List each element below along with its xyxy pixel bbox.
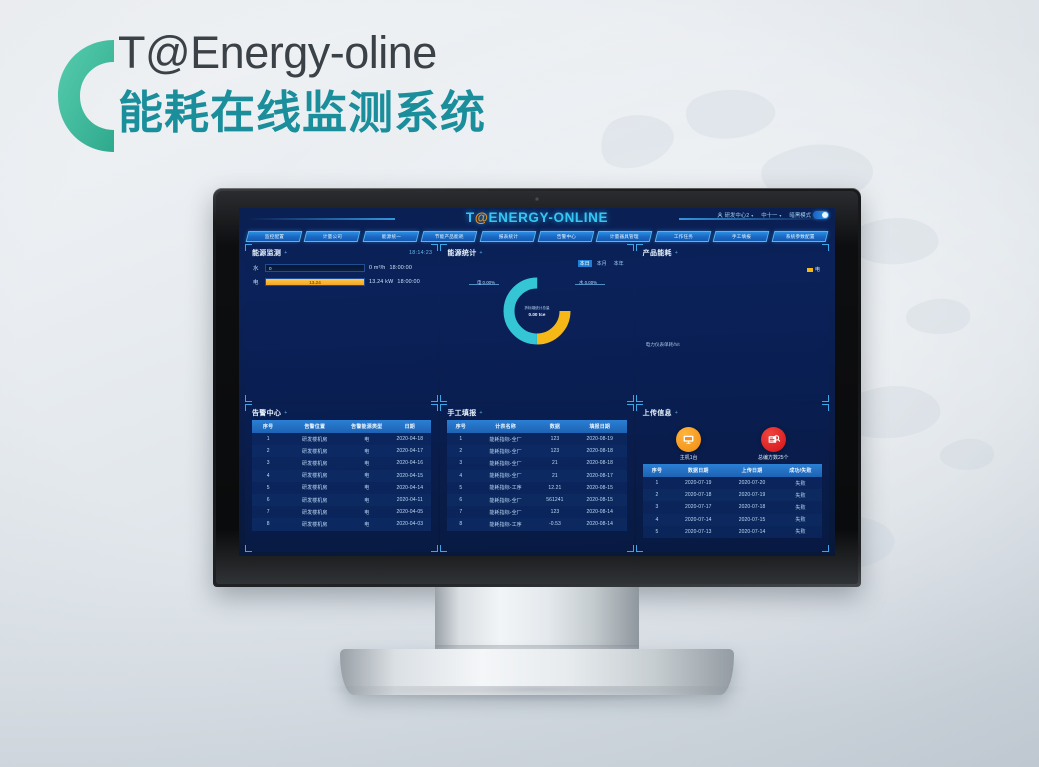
table-cell: 2020-08-18 xyxy=(573,457,627,469)
table-row[interactable]: 6能耗指标-全厂5612412020-08-15 xyxy=(447,494,626,506)
table-row[interactable]: 1能耗指标-全厂1232020-08-19 xyxy=(447,433,626,445)
table-cell: 12.21 xyxy=(537,482,573,494)
clock-energy-monitor: 18:14:23 xyxy=(409,250,432,256)
table-cell: 2020-08-17 xyxy=(573,470,627,482)
table-cell: 5 xyxy=(252,482,284,494)
branding-block: T@Energy-oline 能耗在线监测系统 xyxy=(56,24,616,154)
table-cell: 能耗指标-工序 xyxy=(474,518,537,530)
table-row[interactable]: 2研发楼机房电2020-04-17 xyxy=(252,445,431,457)
table-cell: 失败 xyxy=(779,501,822,513)
table-cell: 123 xyxy=(537,445,573,457)
energy-row-time: 18:00:00 xyxy=(389,265,412,271)
table-cell: 4 xyxy=(252,470,284,482)
server-host-glyph xyxy=(682,433,695,446)
table-cell: 4 xyxy=(643,514,672,526)
upload-info-stats: 主机1台 xyxy=(636,420,829,461)
table-cell: 2020-07-19 xyxy=(671,477,725,489)
nav-button-8[interactable]: 工作任务 xyxy=(654,231,711,242)
energy-row-reading: 0 m³/h xyxy=(369,265,385,271)
webcam-icon xyxy=(535,197,539,201)
upload-stat-host-label: 主机1台 xyxy=(680,454,698,461)
nav-button-10[interactable]: 系统参数配置 xyxy=(771,231,828,242)
table-cell: 2020-07-15 xyxy=(725,514,779,526)
energy-row-bar: 13.24 xyxy=(265,278,365,286)
panel-header-upload-info: 上传信息 + xyxy=(636,404,829,420)
table-cell: 8 xyxy=(252,518,284,530)
column-header: 日期 xyxy=(388,420,431,433)
table-cell: 研发楼机房 xyxy=(284,457,345,469)
table-cell: 123 xyxy=(537,506,573,518)
page-background: T@Energy-oline 能耗在线监测系统 T@ENERGY-ONLINE xyxy=(0,0,1039,767)
column-header: 计表名称 xyxy=(474,420,537,433)
header-right-controls: 研发中心2 ▾ 中十一 ▾ 暗黑模式 xyxy=(717,211,829,219)
table-cell: 2020-07-19 xyxy=(725,489,779,501)
column-header: 序号 xyxy=(643,464,672,477)
table-cell: 研发楼机房 xyxy=(284,482,345,494)
table-row[interactable]: 2能耗指标-全厂1232020-08-18 xyxy=(447,445,626,457)
table-cell: 失败 xyxy=(779,489,822,501)
dashboard-header: T@ENERGY-ONLINE 研发中心2 ▾ xyxy=(239,208,835,229)
panel-upload-info: 上传信息 + xyxy=(636,404,829,552)
table-cell: 2020-08-14 xyxy=(573,518,627,530)
secondary-label: 中十一 xyxy=(761,211,777,219)
table-row[interactable]: 4研发楼机房电2020-04-15 xyxy=(252,470,431,482)
upload-stat-reports-label: 总编方数25个 xyxy=(758,454,789,461)
panel-header-manual-entry: 手工填报 + xyxy=(440,404,633,420)
nav-button-label: 手工填报 xyxy=(732,234,751,240)
table-cell: 研发楼机房 xyxy=(284,470,345,482)
table-cell: 研发楼机房 xyxy=(284,506,345,518)
table-cell: 研发楼机房 xyxy=(284,518,345,530)
corner-bracket-bl xyxy=(636,395,643,402)
table-cell: 电 xyxy=(345,457,388,469)
energy-stats-period-tabs: 本日本月本年 xyxy=(578,260,626,267)
user-menu[interactable]: 研发中心2 ▾ xyxy=(717,211,754,219)
energy-monitor-rows: 水00 m³/h18:00:00电13.2413.24 kW18:00:00 xyxy=(245,260,438,286)
energy-row-bar-value: 13.24 xyxy=(309,280,321,285)
table-cell: 3 xyxy=(252,457,284,469)
at-symbol-icon: @ xyxy=(475,210,489,225)
alarm-center-table-wrap[interactable]: 序号告警位置告警能源类型日期1研发楼机房电2020-04-182研发楼机房电20… xyxy=(245,420,438,546)
table-cell: 6 xyxy=(447,494,474,506)
table-cell: -0.53 xyxy=(537,518,573,530)
table-cell: 2020-08-14 xyxy=(573,506,627,518)
c-arc-logo-icon xyxy=(56,38,118,154)
table-cell: 2020-08-19 xyxy=(573,433,627,445)
column-header: 告警能源类型 xyxy=(345,420,388,433)
table-row[interactable]: 3能耗指标-全厂212020-08-18 xyxy=(447,457,626,469)
corner-bracket-bl xyxy=(245,545,252,552)
table-cell: 2 xyxy=(643,489,672,501)
table-row[interactable]: 52020-07-132020-07-14失败 xyxy=(643,526,822,538)
manual-entry-table: 序号计表名称数据填报日期1能耗指标-全厂1232020-08-192能耗指标-全… xyxy=(447,420,626,531)
table-cell: 561241 xyxy=(537,494,573,506)
table-cell: 2020-07-13 xyxy=(671,526,725,538)
table-row[interactable]: 8研发楼机房电2020-04-03 xyxy=(252,518,431,530)
table-cell: 2020-07-14 xyxy=(725,526,779,538)
column-header: 数据日期 xyxy=(671,464,725,477)
user-icon xyxy=(717,212,723,218)
header-wing-left xyxy=(247,218,395,220)
table-row[interactable]: 42020-07-142020-07-15失败 xyxy=(643,514,822,526)
period-tab-2[interactable]: 本月 xyxy=(595,260,609,267)
expand-icon-energy-monitor[interactable]: + xyxy=(284,250,287,256)
table-row[interactable]: 12020-07-192020-07-20失败 xyxy=(643,477,822,489)
table-cell: 1 xyxy=(447,433,474,445)
table-cell: 电 xyxy=(345,470,388,482)
manual-entry-table-wrap[interactable]: 序号计表名称数据填报日期1能耗指标-全厂1232020-08-192能耗指标-全… xyxy=(440,420,633,546)
product-energy-legend: 电 xyxy=(807,266,820,273)
panel-header-energy-monitor: 能源监测 + 18:14:23 xyxy=(245,244,438,260)
table-cell: 能耗指标-工序 xyxy=(474,482,537,494)
nav-button-label: 计量器具管理 xyxy=(610,234,639,240)
donut-chart: 折标煤统计总量 0.00 tce xyxy=(500,274,574,348)
table-cell: 7 xyxy=(447,506,474,518)
server-host-icon xyxy=(676,427,701,452)
panel-alarm-center: 告警中心 + 序号告警位置告警能源类型日期1研发楼机房电2020-04-182研… xyxy=(245,404,438,552)
column-header: 上传日期 xyxy=(725,464,779,477)
table-cell: 21 xyxy=(537,457,573,469)
panel-product-energy: 产品能耗 + 电 电力仪表单耗/h/t xyxy=(636,244,829,402)
expand-icon-manual-entry[interactable]: + xyxy=(480,410,483,416)
dashboard-title-prefix: T xyxy=(466,210,475,225)
energy-monitor-row: 电13.2413.24 kW18:00:00 xyxy=(253,278,430,286)
corner-bracket-br xyxy=(431,395,438,402)
table-header-row: 序号计表名称数据填报日期 xyxy=(447,420,626,433)
corner-bracket-bl xyxy=(245,395,252,402)
table-cell: 能耗指标-全厂 xyxy=(474,470,537,482)
table-row[interactable]: 5研发楼机房电2020-04-14 xyxy=(252,482,431,494)
panel-title-upload-info: 上传信息 xyxy=(643,408,672,418)
legend-label-electricity: 电 xyxy=(815,266,820,273)
table-cell: 21 xyxy=(537,470,573,482)
expand-icon-upload-info[interactable]: + xyxy=(675,410,678,416)
alarm-center-table: 序号告警位置告警能源类型日期1研发楼机房电2020-04-182研发楼机房电20… xyxy=(252,420,431,531)
dashboard: T@ENERGY-ONLINE 研发中心2 ▾ xyxy=(239,208,835,556)
report-search-glyph xyxy=(767,433,780,446)
table-cell: 电 xyxy=(345,482,388,494)
table-cell: 5 xyxy=(643,526,672,538)
table-cell: 2020-04-18 xyxy=(388,433,431,445)
panel-energy-stats: 能源统计 + 本日本月本年 电 0.00% 水 0.00% xyxy=(440,244,633,402)
nav-button-label: 告警中心 xyxy=(557,234,576,240)
upload-info-table: 序号数据日期上传日期成功/失败12020-07-192020-07-20失败22… xyxy=(643,464,822,538)
table-cell: 2020-07-14 xyxy=(671,514,725,526)
energy-row-name: 水 xyxy=(253,264,261,272)
nav-button-1[interactable]: 监控配置 xyxy=(246,231,303,242)
monitor: T@ENERGY-ONLINE 研发中心2 ▾ xyxy=(213,188,861,698)
nav-button-5[interactable]: 报表统计 xyxy=(479,231,536,242)
table-cell: 2020-04-11 xyxy=(388,494,431,506)
energy-row-bar-value-outside: 0 xyxy=(269,266,272,271)
table-cell: 2020-07-18 xyxy=(671,489,725,501)
table-cell: 2020-04-15 xyxy=(388,470,431,482)
panel-title-product-energy: 产品能耗 xyxy=(643,248,672,258)
energy-row-bar: 0 xyxy=(265,264,365,272)
table-cell: 2020-07-20 xyxy=(725,477,779,489)
expand-icon-alarm-center[interactable]: + xyxy=(284,410,287,416)
table-cell: 2020-08-15 xyxy=(573,482,627,494)
dashboard-grid: 能源监测 + 18:14:23 水00 m³/h18:00:00电13.2413… xyxy=(245,244,829,552)
energy-row-reading: 13.24 kW xyxy=(369,279,393,285)
table-cell: 电 xyxy=(345,494,388,506)
corner-bracket-br xyxy=(627,395,634,402)
upload-info-table-wrap[interactable]: 序号数据日期上传日期成功/失败12020-07-192020-07-20失败22… xyxy=(636,461,829,538)
table-cell: 电 xyxy=(345,518,388,530)
user-name: 研发中心2 xyxy=(725,211,750,219)
table-cell: 失败 xyxy=(779,514,822,526)
table-cell: 2020-04-14 xyxy=(388,482,431,494)
nav-button-label: 系统参数配置 xyxy=(785,234,814,240)
upload-stat-reports[interactable]: 总编方数25个 xyxy=(758,427,789,461)
column-header: 序号 xyxy=(252,420,284,433)
table-header-row: 序号告警位置告警能源类型日期 xyxy=(252,420,431,433)
nav-button-label: 节能产品能耗 xyxy=(435,234,464,240)
table-cell: 失败 xyxy=(779,477,822,489)
monitor-screen: T@ENERGY-ONLINE 研发中心2 ▾ xyxy=(239,208,835,556)
panel-title-manual-entry: 手工填报 xyxy=(447,408,476,418)
energy-row-name: 电 xyxy=(253,278,261,286)
table-cell: 6 xyxy=(252,494,284,506)
panel-energy-monitor: 能源监测 + 18:14:23 水00 m³/h18:00:00电13.2413… xyxy=(245,244,438,402)
table-cell: 123 xyxy=(537,433,573,445)
table-cell: 能耗指标-全厂 xyxy=(474,457,537,469)
table-row[interactable]: 22020-07-182020-07-19失败 xyxy=(643,489,822,501)
table-row[interactable]: 1研发楼机房电2020-04-18 xyxy=(252,433,431,445)
table-cell: 4 xyxy=(447,470,474,482)
table-cell: 研发楼机房 xyxy=(284,433,345,445)
table-cell: 2020-04-05 xyxy=(388,506,431,518)
table-cell: 5 xyxy=(447,482,474,494)
product-energy-axis-label: 电力仪表单耗/h/t xyxy=(646,342,680,348)
table-cell: 能耗指标-全厂 xyxy=(474,494,537,506)
corner-bracket-br xyxy=(627,545,634,552)
nav-button-label: 工作任务 xyxy=(673,234,692,240)
table-cell: 能耗指标-全厂 xyxy=(474,506,537,518)
period-tab-3[interactable]: 本年 xyxy=(612,260,626,267)
nav-button-6[interactable]: 告警中心 xyxy=(538,231,595,242)
table-cell: 2020-08-15 xyxy=(573,494,627,506)
table-cell: 2020-08-18 xyxy=(573,445,627,457)
table-cell: 7 xyxy=(252,506,284,518)
corner-bracket-bl xyxy=(440,395,447,402)
table-cell: 能耗指标-全厂 xyxy=(474,433,537,445)
upload-stat-host[interactable]: 主机1台 xyxy=(676,427,701,461)
table-row[interactable]: 6研发楼机房电2020-04-11 xyxy=(252,494,431,506)
table-cell: 2020-07-18 xyxy=(725,501,779,513)
table-cell: 2020-04-17 xyxy=(388,445,431,457)
table-cell: 3 xyxy=(447,457,474,469)
table-row[interactable]: 5能耗指标-工序12.212020-08-15 xyxy=(447,482,626,494)
corner-bracket-br xyxy=(431,545,438,552)
column-header: 序号 xyxy=(447,420,474,433)
column-header: 告警位置 xyxy=(284,420,345,433)
table-cell: 2020-04-16 xyxy=(388,457,431,469)
expand-icon-product-energy[interactable]: + xyxy=(675,250,678,256)
dashboard-title: T@ENERGY-ONLINE xyxy=(466,210,608,225)
corner-bracket-bl xyxy=(636,545,643,552)
chevron-down-icon: ▾ xyxy=(751,213,753,218)
donut-center-value: 0.00 tce xyxy=(529,312,546,317)
report-search-icon xyxy=(761,427,786,452)
donut-center-caption: 折标煤统计总量 xyxy=(524,306,549,311)
nav-button-label: 报表统计 xyxy=(498,234,517,240)
corner-bracket-bl xyxy=(440,545,447,552)
expand-icon-energy-stats[interactable]: + xyxy=(480,250,483,256)
energy-row-time: 18:00:00 xyxy=(397,279,420,285)
panel-header-product-energy: 产品能耗 + xyxy=(636,244,829,260)
panel-manual-entry: 手工填报 + 序号计表名称数据填报日期1能耗指标-全厂1232020-08-19… xyxy=(440,404,633,552)
nav-button-label: 监控配置 xyxy=(265,234,284,240)
dark-mode-toggle[interactable] xyxy=(813,211,829,219)
column-header: 数据 xyxy=(537,420,573,433)
table-cell: 能耗指标-全厂 xyxy=(474,445,537,457)
column-header: 成功/失败 xyxy=(779,464,822,477)
panel-title-energy-stats: 能源统计 xyxy=(447,248,476,258)
chevron-down-icon-secondary: ▾ xyxy=(779,213,781,218)
dashboard-title-suffix: ENERGY-ONLINE xyxy=(489,210,609,225)
table-cell: 失败 xyxy=(779,526,822,538)
table-row[interactable]: 32020-07-172020-07-18失败 xyxy=(643,501,822,513)
table-cell: 2 xyxy=(252,445,284,457)
table-cell: 8 xyxy=(447,518,474,530)
panel-header-alarm-center: 告警中心 + xyxy=(245,404,438,420)
table-cell: 3 xyxy=(643,501,672,513)
table-header-row: 序号数据日期上传日期成功/失败 xyxy=(643,464,822,477)
monitor-shadow xyxy=(325,686,749,702)
table-cell: 1 xyxy=(643,477,672,489)
corner-bracket-br xyxy=(822,395,829,402)
energy-monitor-row: 水00 m³/h18:00:00 xyxy=(253,264,430,272)
legend-swatch-electricity xyxy=(807,268,813,272)
table-cell: 电 xyxy=(345,445,388,457)
table-row[interactable]: 4能耗指标-全厂212020-08-17 xyxy=(447,470,626,482)
donut-chart-wrap: 折标煤统计总量 0.00 tce xyxy=(440,274,633,348)
energy-row-bar-fill: 13.24 xyxy=(266,279,364,285)
main-navigation: 监控配置计量公司能源统一节能产品能耗报表统计告警中心计量器具管理工作任务手工填报… xyxy=(239,229,835,245)
nav-button-2[interactable]: 计量公司 xyxy=(304,231,361,242)
period-tab-1[interactable]: 本日 xyxy=(578,260,592,267)
table-row[interactable]: 7研发楼机房电2020-04-05 xyxy=(252,506,431,518)
table-cell: 2020-07-17 xyxy=(671,501,725,513)
dark-mode-control[interactable]: 暗黑模式 xyxy=(789,211,829,219)
table-cell: 电 xyxy=(345,506,388,518)
monitor-bezel: T@ENERGY-ONLINE 研发中心2 ▾ xyxy=(213,188,861,587)
table-cell: 电 xyxy=(345,433,388,445)
panel-title-energy-monitor: 能源监测 xyxy=(252,248,281,258)
table-cell: 研发楼机房 xyxy=(284,494,345,506)
nav-button-label: 能源统一 xyxy=(381,234,400,240)
panel-header-energy-stats: 能源统计 + xyxy=(440,244,633,260)
table-cell: 研发楼机房 xyxy=(284,445,345,457)
table-cell: 2 xyxy=(447,445,474,457)
nav-button-3[interactable]: 能源统一 xyxy=(362,231,419,242)
nav-button-label: 计量公司 xyxy=(323,234,342,240)
nav-button-4[interactable]: 节能产品能耗 xyxy=(421,231,478,242)
nav-button-9[interactable]: 手工填报 xyxy=(713,231,770,242)
donut-center-text: 折标煤统计总量 0.00 tce xyxy=(500,274,574,348)
column-header: 填报日期 xyxy=(573,420,627,433)
table-row[interactable]: 7能耗指标-全厂1232020-08-14 xyxy=(447,506,626,518)
brand-name-en: T@Energy-oline xyxy=(118,24,486,82)
secondary-menu[interactable]: 中十一 ▾ xyxy=(761,211,781,219)
panel-title-alarm-center: 告警中心 xyxy=(252,408,281,418)
nav-button-7[interactable]: 计量器具管理 xyxy=(596,231,653,242)
dark-mode-label: 暗黑模式 xyxy=(789,211,811,219)
corner-bracket-br xyxy=(822,545,829,552)
table-row[interactable]: 8能耗指标-工序-0.532020-08-14 xyxy=(447,518,626,530)
brand-name-cn: 能耗在线监测系统 xyxy=(118,82,486,144)
table-cell: 2020-04-03 xyxy=(388,518,431,530)
table-cell: 1 xyxy=(252,433,284,445)
table-row[interactable]: 3研发楼机房电2020-04-16 xyxy=(252,457,431,469)
